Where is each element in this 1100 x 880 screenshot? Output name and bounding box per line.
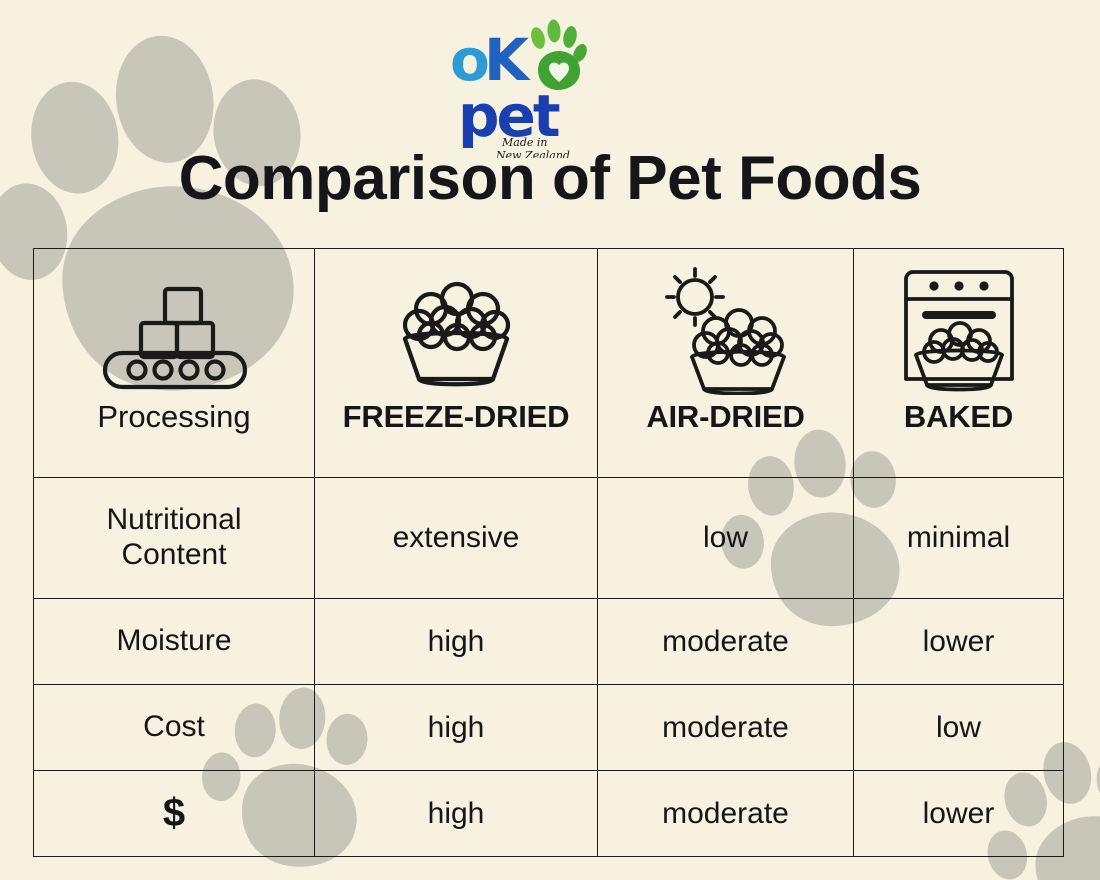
row-label-cost: Cost bbox=[34, 685, 315, 771]
table-row: Moisture high moderate lower bbox=[34, 599, 1064, 685]
cell-dollar-baked: lower bbox=[854, 771, 1064, 857]
row-label-line1: Nutritional bbox=[34, 503, 314, 538]
oven-icon bbox=[906, 272, 1012, 379]
cell-moisture-freeze-dried: high bbox=[315, 599, 598, 685]
page-title: Comparison of Pet Foods bbox=[0, 143, 1100, 214]
header-cell-freeze-dried: FREEZE-DRIED bbox=[315, 249, 598, 478]
header-label-freeze-dried: FREEZE-DRIED bbox=[343, 401, 570, 434]
cell-nutritional-baked: minimal bbox=[854, 478, 1064, 599]
row-label-moisture: Moisture bbox=[34, 599, 315, 685]
cell-nutritional-freeze-dried: extensive bbox=[315, 478, 598, 599]
header-label-baked: BAKED bbox=[904, 401, 1013, 434]
logo-green-paw-icon bbox=[529, 19, 590, 90]
header-label-air-dried: AIR-DRIED bbox=[646, 401, 804, 434]
oven-bowl-kibble-icon bbox=[884, 267, 1034, 395]
header-cell-air-dried: AIR-DRIED bbox=[598, 249, 854, 478]
header-cell-processing: Processing bbox=[34, 249, 315, 478]
row-label-dollar-sign: $ bbox=[34, 771, 315, 857]
table-row: $ high moderate lower bbox=[34, 771, 1064, 857]
cell-moisture-baked: lower bbox=[854, 599, 1064, 685]
row-label-line2: Content bbox=[34, 538, 314, 573]
cell-nutritional-air-dried: low bbox=[598, 478, 854, 599]
cell-dollar-air-dried: moderate bbox=[598, 771, 854, 857]
cell-dollar-freeze-dried: high bbox=[315, 771, 598, 857]
sun-bowl-kibble-icon bbox=[638, 267, 813, 395]
cell-cost-air-dried: moderate bbox=[598, 685, 854, 771]
comparison-table: Processing bbox=[33, 248, 1064, 857]
header-label-processing: Processing bbox=[97, 401, 250, 434]
brand-logo: o K pet Made in New Zealand bbox=[0, 18, 1100, 158]
cell-moisture-air-dried: moderate bbox=[598, 599, 854, 685]
cell-cost-freeze-dried: high bbox=[315, 685, 598, 771]
cell-cost-baked: low bbox=[854, 685, 1064, 771]
bowl-kibble-icon bbox=[361, 267, 551, 395]
table-header-row: Processing bbox=[34, 249, 1064, 478]
header-cell-baked: BAKED bbox=[854, 249, 1064, 478]
table-row: Nutritional Content extensive low minima… bbox=[34, 478, 1064, 599]
conveyor-belt-icon bbox=[89, 267, 259, 395]
table-row: Cost high moderate low bbox=[34, 685, 1064, 771]
row-label-nutritional-content: Nutritional Content bbox=[34, 478, 315, 599]
